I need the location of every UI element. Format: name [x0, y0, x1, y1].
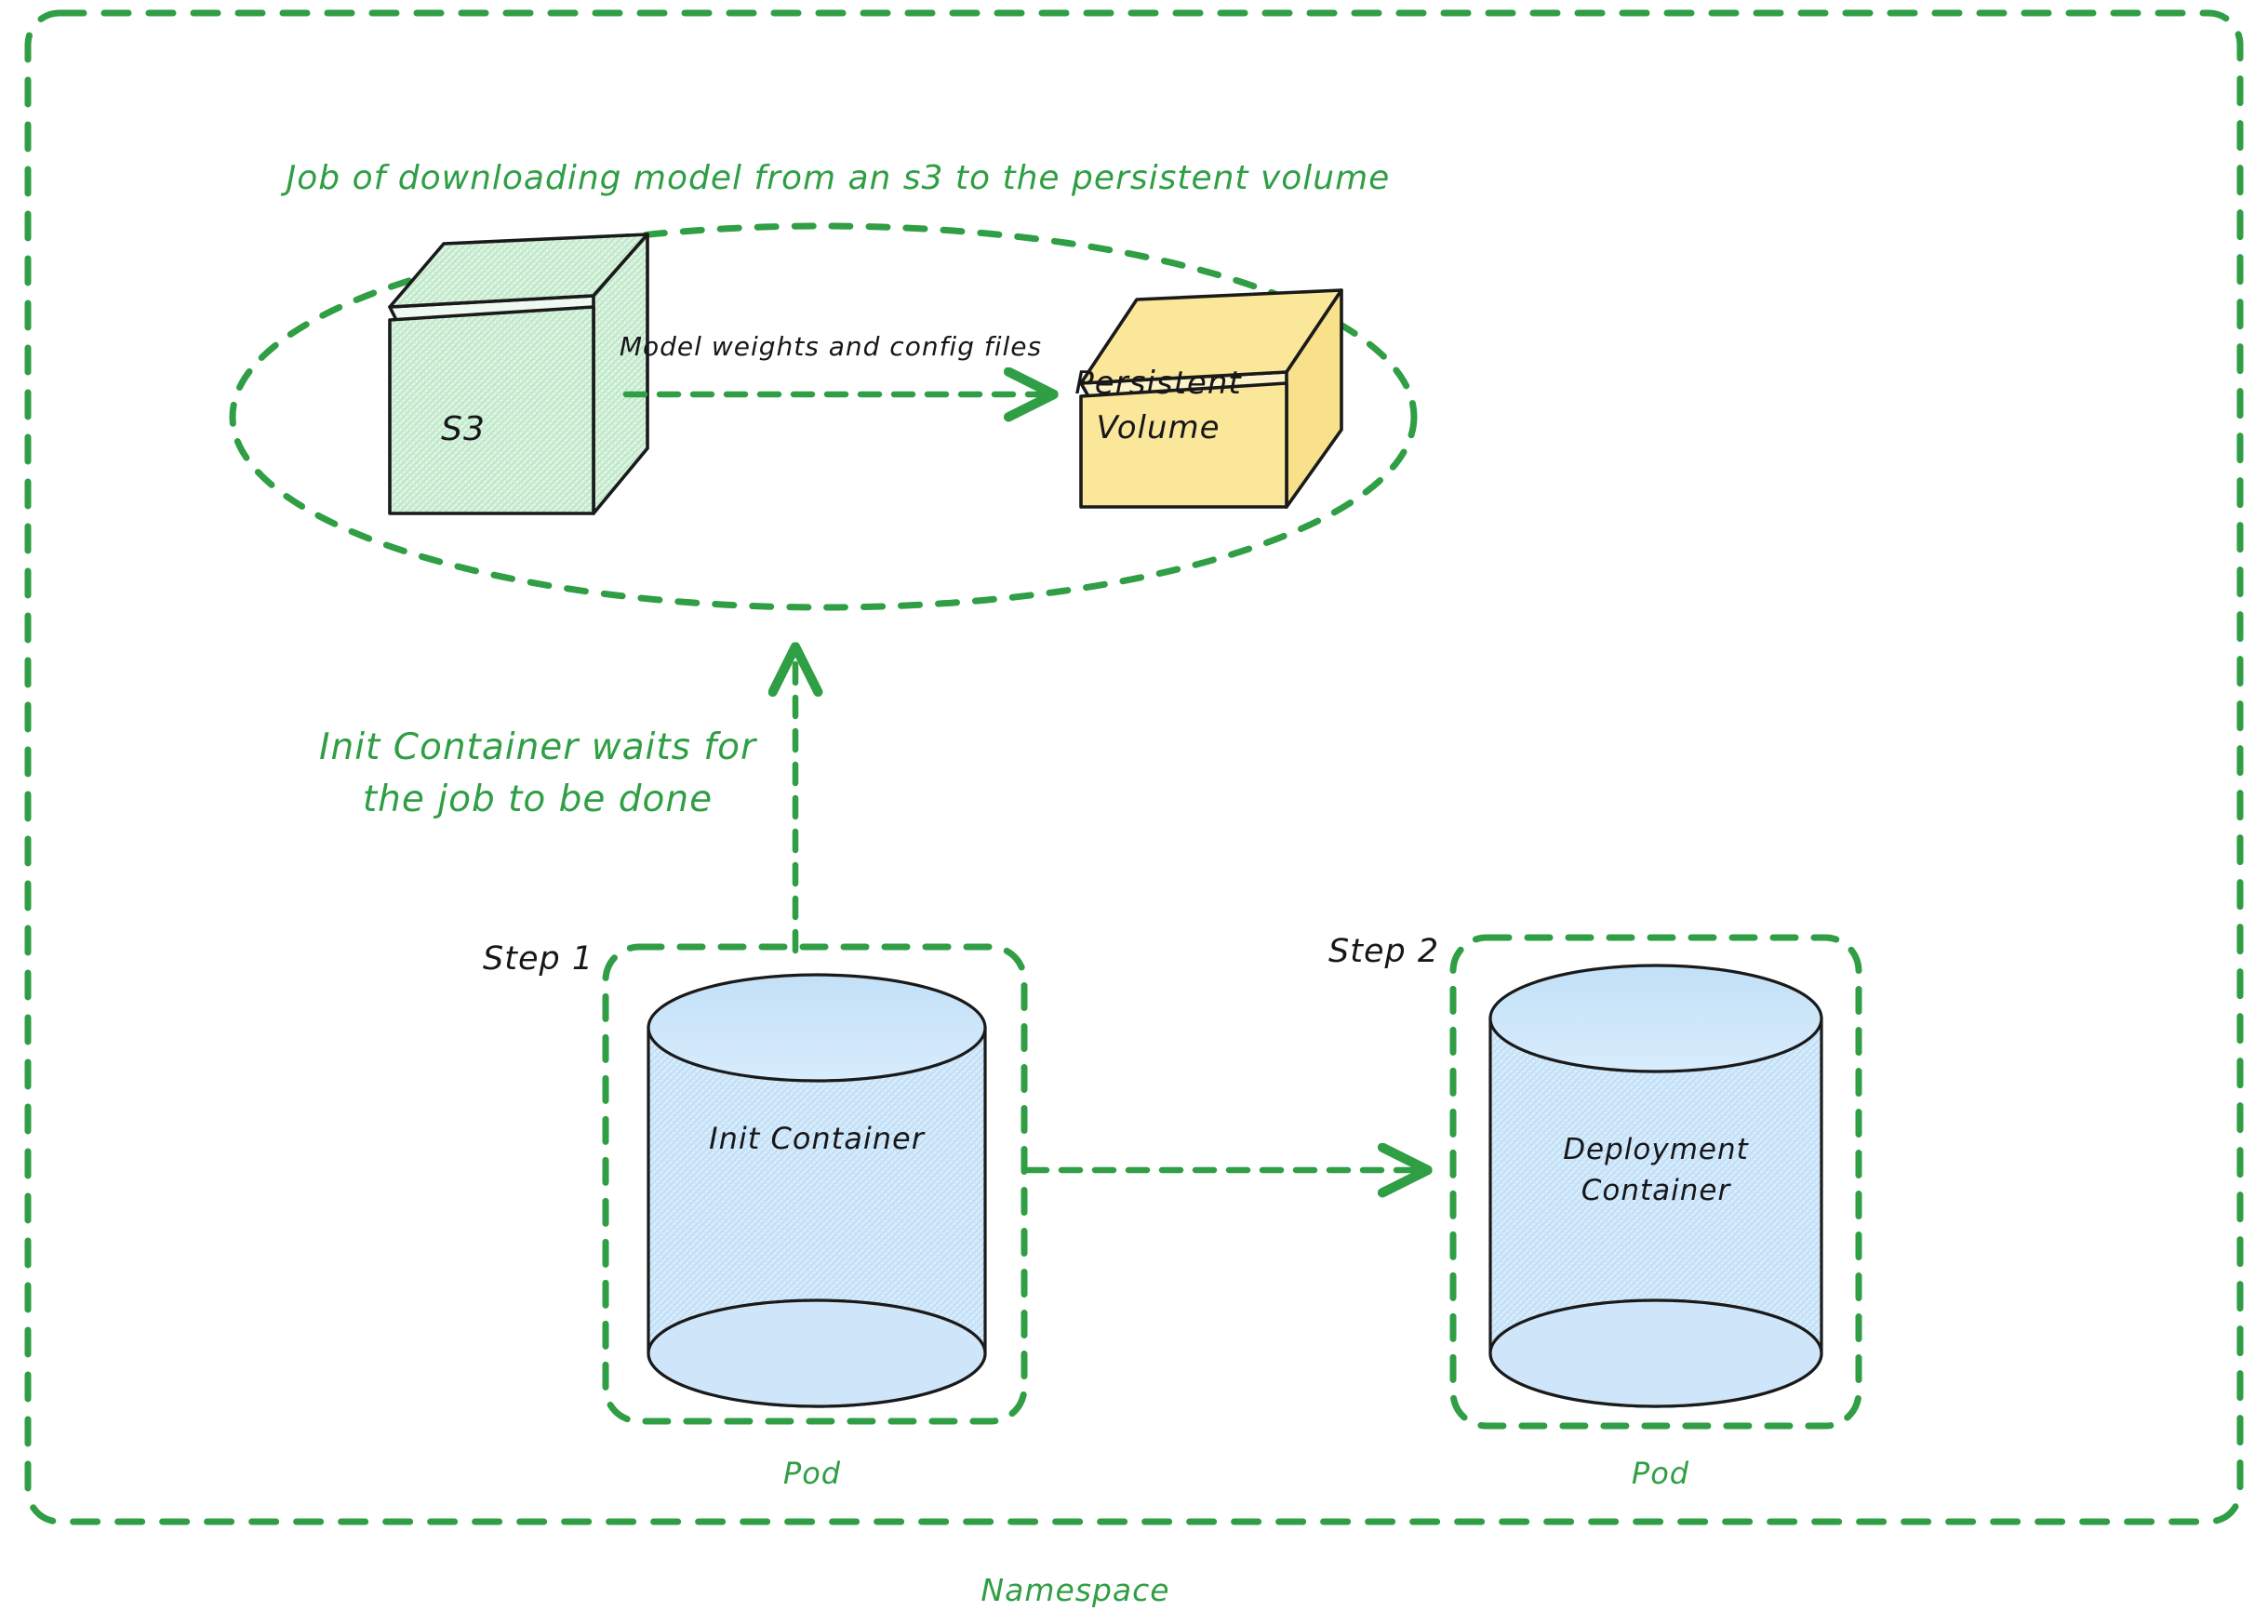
namespace-label: Namespace — [981, 1572, 1169, 1609]
init-container-cylinder[interactable] — [648, 975, 985, 1406]
init-container-label: Init Container — [709, 1121, 925, 1157]
persistent-volume-label-line1: Persistent — [1074, 365, 1241, 403]
edge-label-model-weights: Model weights and config files — [620, 331, 1042, 363]
diagram-vector-layer — [0, 0, 2268, 1624]
pod-label-1: Pod — [783, 1456, 841, 1492]
diagram-canvas: Job of downloading model from an s3 to t… — [0, 0, 2268, 1624]
s3-cube[interactable] — [390, 234, 647, 513]
step-1-label: Step 1 — [483, 939, 594, 979]
edge-label-init-waits-line2: the job to be done — [363, 778, 713, 822]
job-group-title: Job of downloading model from an s3 to t… — [287, 158, 1391, 199]
s3-cube-label: S3 — [441, 409, 486, 450]
persistent-volume-label-line2: Volume — [1096, 409, 1220, 447]
deployment-container-label-line2: Container — [1581, 1174, 1731, 1209]
deployment-container-label-line1: Deployment — [1563, 1133, 1749, 1168]
pod-label-2: Pod — [1632, 1456, 1689, 1492]
edge-label-init-waits-line1: Init Container waits for — [319, 725, 756, 770]
step-2-label: Step 2 — [1328, 932, 1439, 972]
